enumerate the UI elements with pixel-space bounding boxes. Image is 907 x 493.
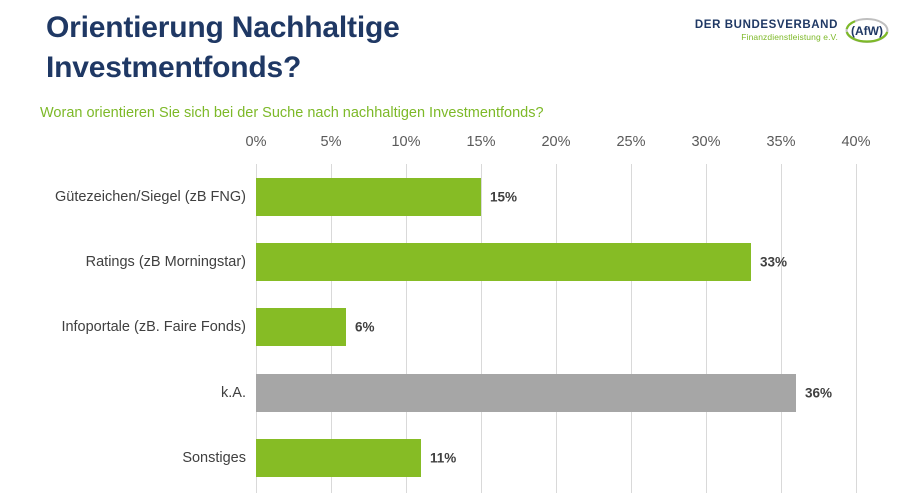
bar-value-label: 11% bbox=[430, 450, 456, 465]
plot-area: 0%5%10%15%20%25%30%35%40%15%Gütezeichen/… bbox=[256, 164, 856, 493]
bar-value-label: 33% bbox=[760, 255, 787, 270]
bar[interactable] bbox=[256, 374, 796, 412]
x-axis-tick-label: 40% bbox=[841, 134, 870, 150]
bar-chart: 0%5%10%15%20%25%30%35%40%15%Gütezeichen/… bbox=[0, 0, 907, 493]
bar-value-label: 36% bbox=[805, 385, 832, 400]
x-axis-tick-label: 5% bbox=[321, 134, 342, 150]
x-axis-tick-label: 30% bbox=[691, 134, 720, 150]
gridline-30% bbox=[706, 164, 707, 493]
bar[interactable] bbox=[256, 439, 421, 477]
x-axis-tick-label: 25% bbox=[616, 134, 645, 150]
bar[interactable] bbox=[256, 178, 481, 216]
x-axis-tick-label: 20% bbox=[541, 134, 570, 150]
gridline-40% bbox=[856, 164, 857, 493]
bar-value-label: 15% bbox=[490, 190, 517, 205]
bar[interactable] bbox=[256, 243, 751, 281]
x-axis-tick-label: 0% bbox=[246, 134, 267, 150]
y-axis-category-label: Sonstiges bbox=[0, 450, 246, 466]
x-axis-tick-label: 35% bbox=[766, 134, 795, 150]
slide-root: Orientierung Nachhaltige Investmentfonds… bbox=[0, 0, 907, 493]
x-axis-tick-label: 15% bbox=[466, 134, 495, 150]
y-axis-category-label: Gütezeichen/Siegel (zB FNG) bbox=[0, 189, 246, 205]
y-axis-category-label: Infoportale (zB. Faire Fonds) bbox=[0, 319, 246, 335]
gridline-15% bbox=[481, 164, 482, 493]
y-axis-category-label: Ratings (zB Morningstar) bbox=[0, 254, 246, 270]
gridline-20% bbox=[556, 164, 557, 493]
y-axis-category-label: k.A. bbox=[0, 385, 246, 401]
gridline-35% bbox=[781, 164, 782, 493]
bar-value-label: 6% bbox=[355, 320, 375, 335]
gridline-25% bbox=[631, 164, 632, 493]
bar[interactable] bbox=[256, 308, 346, 346]
x-axis-tick-label: 10% bbox=[391, 134, 420, 150]
